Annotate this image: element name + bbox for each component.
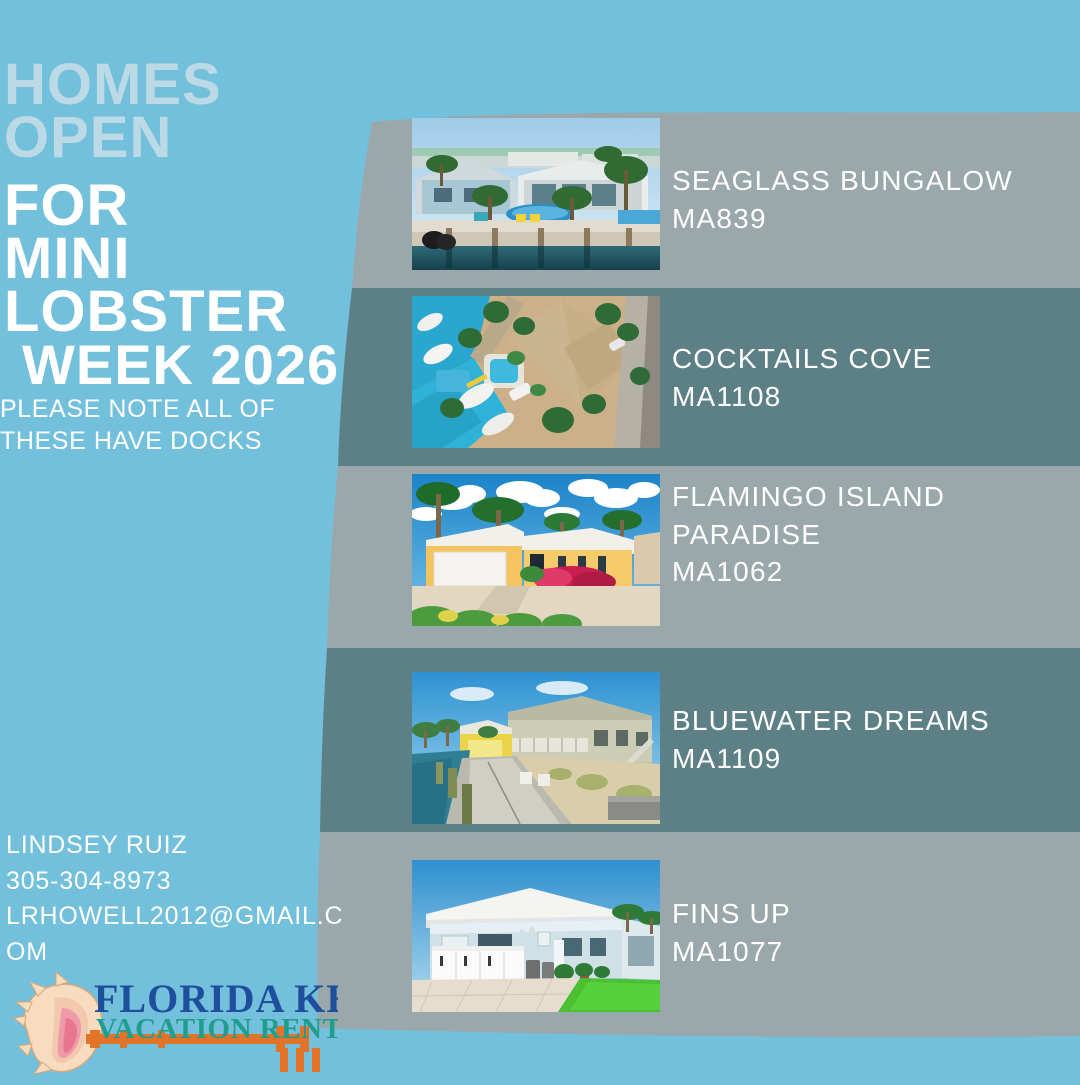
- listing-photo: [412, 860, 660, 1012]
- poster-canvas: HOMES OPEN FOR MINI LOBSTER WEEK 2026 PL…: [0, 0, 1080, 1080]
- listing-id: MA1077: [672, 933, 1052, 971]
- contact-email[interactable]: LRHOWELL2012@GMAIL.COM: [6, 899, 356, 970]
- listing-label: FINS UP MA1077: [672, 895, 1052, 970]
- listing-name: FINS UP: [672, 895, 1052, 933]
- contact-name: LINDSEY RUIZ: [6, 828, 356, 864]
- company-logo: FLORIDA KEYS VACATION RENTALS: [8, 968, 338, 1080]
- conch-shell-icon: [14, 972, 102, 1074]
- logo-line-vacation-rentals: VACATION RENTALS: [96, 1013, 338, 1045]
- contact-block: LINDSEY RUIZ 305-304-8973 LRHOWELL2012@G…: [6, 828, 356, 970]
- contact-phone[interactable]: 305-304-8973: [6, 864, 356, 900]
